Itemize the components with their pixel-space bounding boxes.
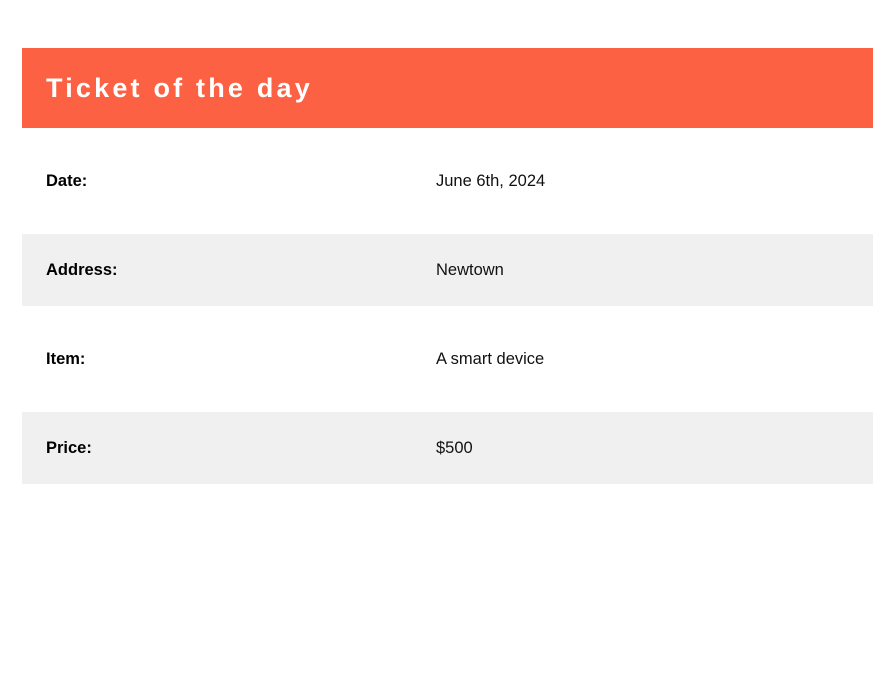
table-row: Address: Newtown <box>22 234 873 306</box>
row-value-date: June 6th, 2024 <box>436 172 873 191</box>
table-row: Date: June 6th, 2024 <box>22 145 873 217</box>
row-divider <box>22 306 873 323</box>
table-row: Item: A smart device <box>22 323 873 395</box>
ticket-card: Ticket of the day Date: June 6th, 2024 A… <box>22 48 873 484</box>
ticket-header-banner: Ticket of the day <box>22 48 873 128</box>
table-row: Price: $500 <box>22 412 873 484</box>
row-value-address: Newtown <box>436 261 873 280</box>
row-value-price: $500 <box>436 439 873 458</box>
page-title: Ticket of the day <box>46 75 313 102</box>
row-value-item: A smart device <box>436 350 873 369</box>
row-label-date: Date: <box>22 172 436 191</box>
row-divider <box>22 395 873 412</box>
row-label-item: Item: <box>22 350 436 369</box>
ticket-details-list: Date: June 6th, 2024 Address: Newtown It… <box>22 145 873 484</box>
row-label-address: Address: <box>22 261 436 280</box>
row-divider <box>22 217 873 234</box>
row-label-price: Price: <box>22 439 436 458</box>
